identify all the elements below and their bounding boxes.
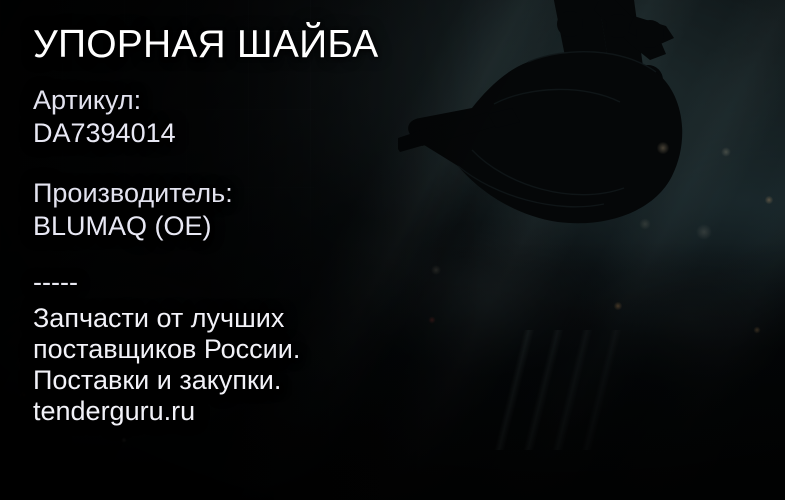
manufacturer-value: BLUMAQ (OE) [33, 210, 233, 243]
article-label: Артикул: [33, 84, 176, 117]
tagline-block: Запчасти от лучших поставщиков России. П… [33, 303, 300, 427]
article-field: Артикул: DA7394014 [33, 84, 176, 150]
tagline-line-3: Поставки и закупки. [33, 365, 300, 396]
manufacturer-field: Производитель: BLUMAQ (OE) [33, 177, 233, 243]
product-banner: УПОРНАЯ ШАЙБА Артикул: DA7394014 Произво… [0, 0, 785, 500]
tagline-line-2: поставщиков России. [33, 334, 300, 365]
article-value: DA7394014 [33, 117, 176, 150]
site-url: tenderguru.ru [33, 396, 300, 427]
text-overlay: УПОРНАЯ ШАЙБА Артикул: DA7394014 Произво… [0, 0, 785, 500]
manufacturer-label: Производитель: [33, 177, 233, 210]
divider-dashes: ----- [33, 268, 78, 296]
tagline-line-1: Запчасти от лучших [33, 303, 300, 334]
product-title: УПОРНАЯ ШАЙБА [33, 22, 378, 68]
